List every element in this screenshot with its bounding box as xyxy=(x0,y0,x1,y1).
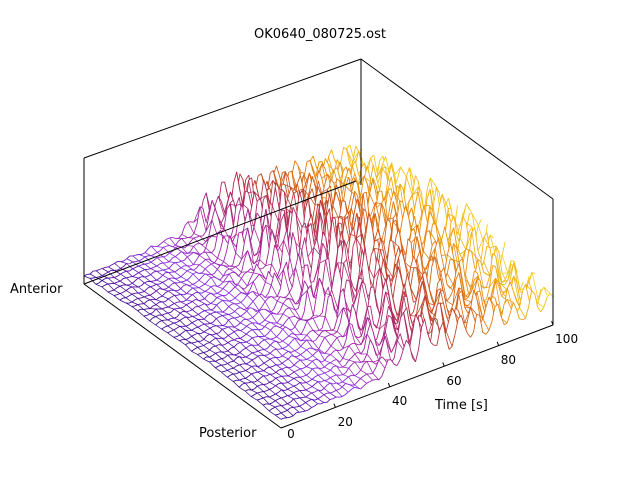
tick-label-time: 0 xyxy=(287,427,295,441)
tick-label-time: 100 xyxy=(555,332,578,346)
axis-label-anterior: Anterior xyxy=(10,282,62,297)
tick-label-time: 80 xyxy=(501,353,516,367)
axis-label-time: Time [s] xyxy=(435,398,488,413)
tick-label-time: 20 xyxy=(338,415,353,429)
tick-label-time: 40 xyxy=(392,394,407,408)
figure-canvas: OK0640_080725.ost Anterior Posterior Tim… xyxy=(0,0,640,480)
surface-plot-svg xyxy=(0,0,640,480)
page-title: OK0640_080725.ost xyxy=(0,27,640,42)
axis-label-posterior: Posterior xyxy=(199,426,256,441)
axis-line xyxy=(84,59,361,158)
tick-label-time: 60 xyxy=(446,374,461,388)
